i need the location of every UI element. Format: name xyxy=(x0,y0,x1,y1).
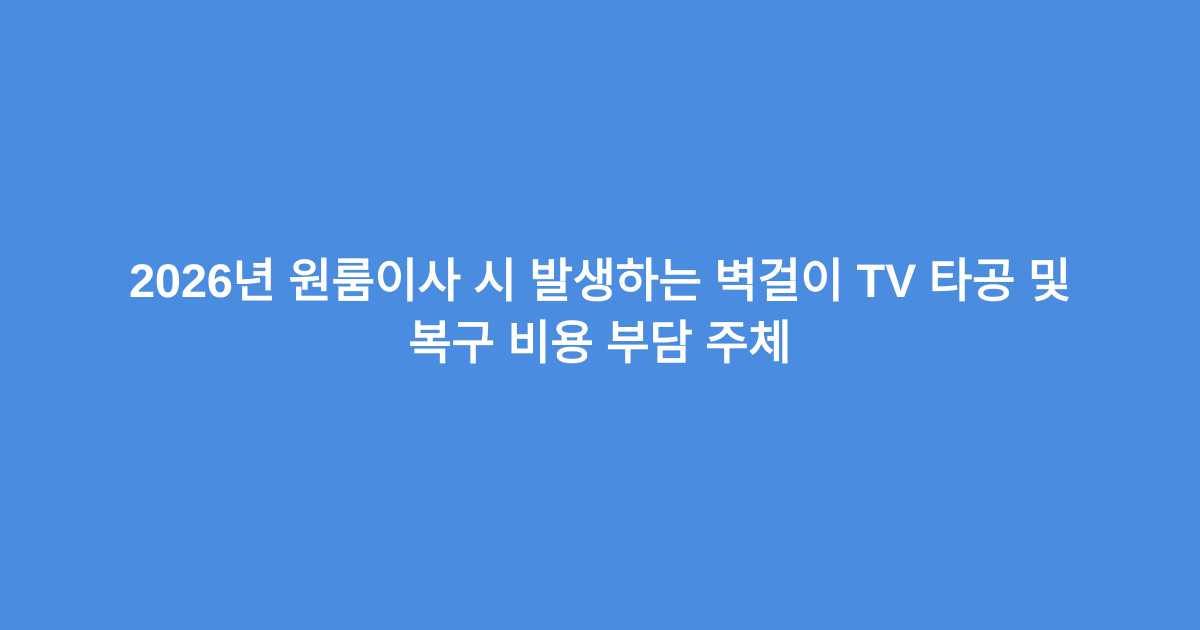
banner-card: 2026년 원룸이사 시 발생하는 벽걸이 TV 타공 및 복구 비용 부담 주… xyxy=(0,0,1200,630)
page-title: 2026년 원룸이사 시 발생하는 벽걸이 TV 타공 및 복구 비용 부담 주… xyxy=(50,250,1150,374)
headline-block: 2026년 원룸이사 시 발생하는 벽걸이 TV 타공 및 복구 비용 부담 주… xyxy=(50,250,1150,374)
